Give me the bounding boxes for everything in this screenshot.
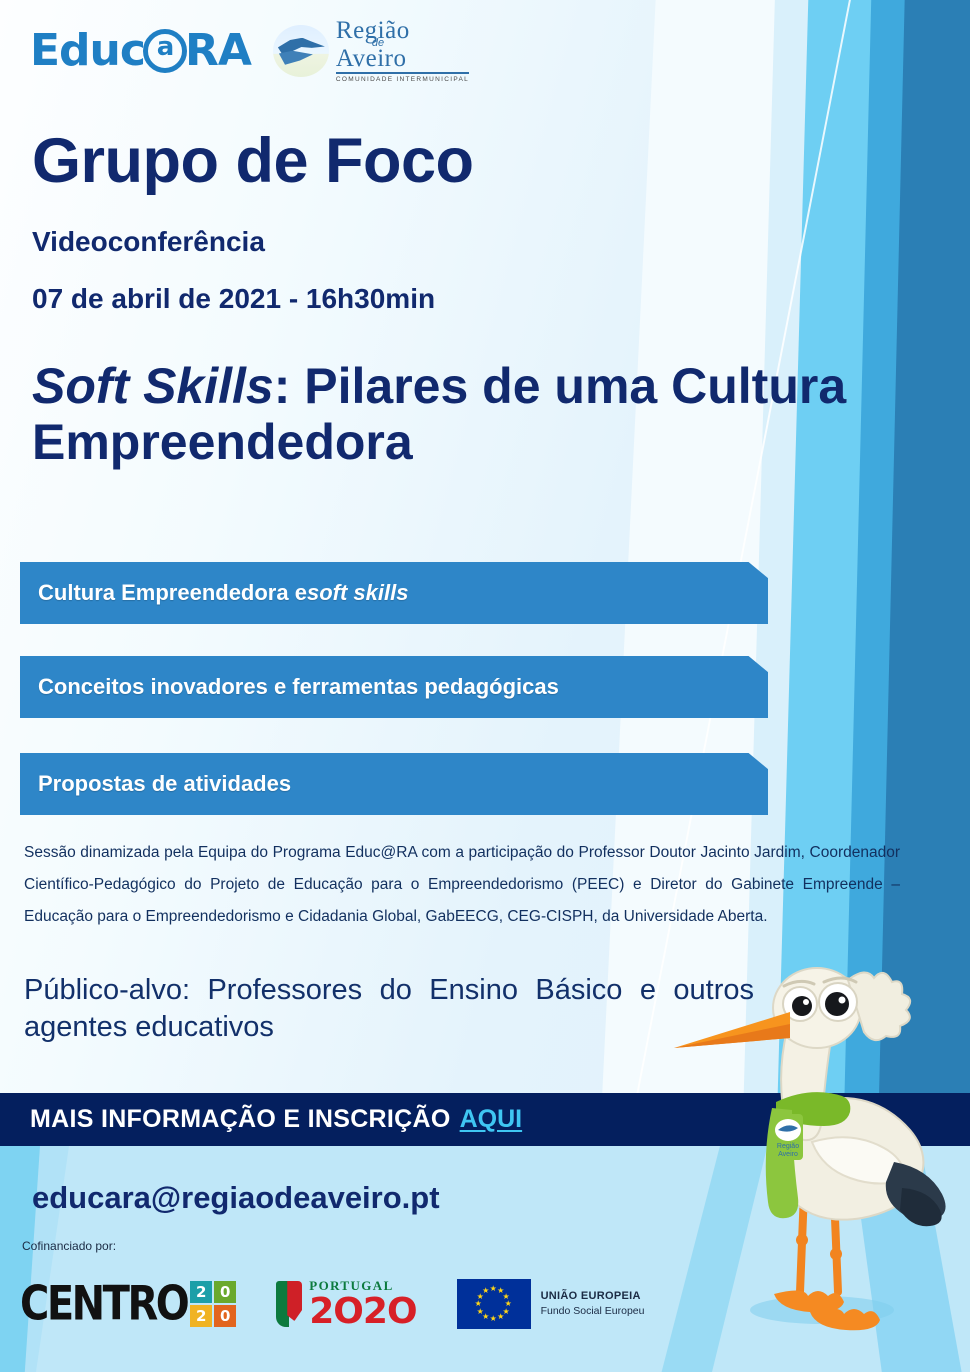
- centro-digit-1: 2: [190, 1281, 212, 1303]
- event-format: Videoconferência: [32, 226, 265, 258]
- regiao-aveiro-mark-icon: [273, 25, 329, 77]
- regiao-aveiro-logo: Região de Aveiro COMUNIDADE INTERMUNICIP…: [273, 18, 469, 84]
- poster-canvas: EducRA Região de Aveiro COMUNIDADE INTER…: [0, 0, 970, 1372]
- eu-star-icon: ★: [475, 1300, 482, 1308]
- eu-title: UNIÃO EUROPEIA: [541, 1288, 645, 1305]
- portugal-year: 2O2O: [309, 1294, 416, 1330]
- contact-email[interactable]: educara@regiaodeaveiro.pt: [32, 1180, 440, 1216]
- funding-label: Cofinanciado por:: [22, 1239, 116, 1253]
- centro-wordmark: CENTRO: [20, 1277, 187, 1331]
- centro-digit-3: 2: [190, 1305, 212, 1327]
- aveiro-label: Aveiro: [336, 46, 469, 74]
- topic-banner-2: Conceitos inovadores e ferramentas pedag…: [20, 656, 768, 718]
- eu-star-icon: ★: [490, 1285, 497, 1293]
- session-title-emphasis: Soft Skills: [32, 358, 274, 414]
- regiao-aveiro-wordmark: Região de Aveiro COMUNIDADE INTERMUNICIP…: [336, 18, 469, 84]
- portugal-wordmark: PORTUGAL 2O2O: [309, 1278, 416, 1330]
- stork-mascot: Região Aveiro: [672, 962, 970, 1344]
- description-paragraph: Sessão dinamizada pela Equipa do Program…: [24, 837, 900, 932]
- topic-banner-1-italic: soft skills: [307, 580, 408, 606]
- topic-banner-2-text: Conceitos inovadores e ferramentas pedag…: [38, 674, 559, 700]
- registration-link[interactable]: AQUI: [460, 1105, 523, 1134]
- portugal-flag-icon: [276, 1281, 302, 1327]
- eu-star-icon: ★: [490, 1315, 497, 1323]
- eu-star-icon: ★: [497, 1313, 504, 1321]
- topic-banner-1-text: Cultura Empreendedora e: [38, 580, 307, 606]
- european-union-logo: ★★★★★★★★★★★★ UNIÃO EUROPEIA Fundo Social…: [457, 1279, 645, 1329]
- target-audience: Público-alvo: Professores do Ensino Bási…: [24, 972, 754, 1046]
- topic-banner-3: Propostas de atividades: [20, 753, 768, 815]
- eu-star-icon: ★: [482, 1287, 489, 1295]
- educara-logo: EducRA: [30, 25, 251, 76]
- session-title: Soft Skills: Pilares de uma Cultura Empr…: [32, 358, 872, 470]
- centro-digit-4: 0: [214, 1305, 236, 1327]
- svg-text:Região: Região: [777, 1143, 799, 1150]
- svg-text:Aveiro: Aveiro: [778, 1151, 798, 1158]
- centro-digit-grid: 2 0 2 0: [190, 1281, 236, 1327]
- page-title: Grupo de Foco: [32, 130, 473, 193]
- cta-label: MAIS INFORMAÇÃO E INSCRIÇÃO: [30, 1105, 451, 1134]
- topic-banner-3-text: Propostas de atividades: [38, 771, 291, 797]
- centro-2020-logo: CENTRO 2 0 2 0: [20, 1281, 236, 1327]
- regiao-tagline: COMUNIDADE INTERMUNICIPAL: [336, 77, 469, 84]
- educara-logo-suffix: RA: [185, 25, 251, 76]
- eu-subtitle: Fundo Social Europeu: [541, 1304, 645, 1320]
- portugal-2020-logo: PORTUGAL 2O2O: [276, 1278, 416, 1330]
- eu-star-icon: ★: [477, 1308, 484, 1316]
- centro-digit-2: 0: [214, 1281, 236, 1303]
- educara-logo-prefix: Educ: [30, 25, 145, 76]
- event-datetime: 07 de abril de 2021 - 16h30min: [32, 283, 435, 315]
- funding-logos: CENTRO 2 0 2 0 PORTUGAL 2O2O ★★★★★★★★★★★…: [20, 1278, 644, 1330]
- topic-banner-1: Cultura Empreendedora e soft skills: [20, 562, 768, 624]
- eu-flag-icon: ★★★★★★★★★★★★: [457, 1279, 531, 1329]
- at-symbol-icon: [143, 29, 187, 73]
- header-logos: EducRA Região de Aveiro COMUNIDADE INTER…: [30, 18, 469, 84]
- eu-wordmark: UNIÃO EUROPEIA Fundo Social Europeu: [541, 1288, 645, 1320]
